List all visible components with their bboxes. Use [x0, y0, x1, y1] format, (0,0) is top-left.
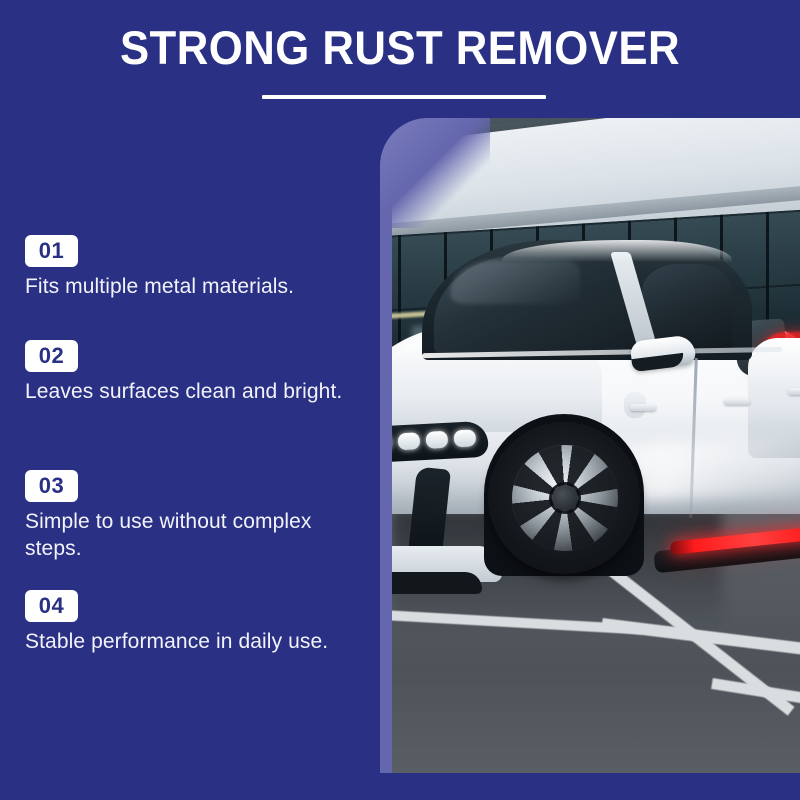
page-title: STRONG RUST REMOVER	[28, 22, 772, 74]
feature-list: 01 Fits multiple metal materials. 02 Lea…	[0, 118, 380, 778]
feature-number-badge-04: 04	[25, 590, 78, 622]
feature-number-badge-01: 01	[25, 235, 78, 267]
feature-item-01: 01 Fits multiple metal materials.	[25, 235, 373, 300]
door-handle	[724, 398, 750, 405]
window-reflection	[450, 260, 580, 304]
front-splitter	[392, 572, 482, 594]
feature-text-04: Stable performance in daily use.	[25, 628, 365, 655]
feature-text-03: Simple to use without complex steps.	[25, 508, 365, 562]
feature-item-02: 02 Leaves surfaces clean and bright.	[25, 340, 373, 405]
door-handle	[788, 388, 800, 395]
photo-scene	[392, 118, 800, 773]
headlight-element	[453, 429, 476, 447]
headlight-element	[398, 432, 421, 450]
poster-header: STRONG RUST REMOVER	[0, 0, 800, 118]
product-photo-frame	[380, 118, 800, 773]
feature-item-03: 03 Simple to use without complex steps.	[25, 470, 373, 562]
title-divider	[262, 95, 546, 99]
product-photo	[392, 118, 800, 773]
product-feature-poster: STRONG RUST REMOVER 01 Fits multiple met…	[0, 0, 800, 800]
feature-text-02: Leaves surfaces clean and bright.	[25, 378, 365, 405]
headlight-element	[425, 431, 448, 449]
white-sports-car	[392, 246, 800, 576]
wheel-hub-cap	[552, 485, 578, 511]
feature-number-badge-02: 02	[25, 340, 78, 372]
feature-text-01: Fits multiple metal materials.	[25, 273, 365, 300]
feature-number-badge-03: 03	[25, 470, 78, 502]
feature-item-04: 04 Stable performance in daily use.	[25, 590, 373, 655]
door-handle	[630, 404, 656, 411]
headlight	[392, 421, 489, 464]
